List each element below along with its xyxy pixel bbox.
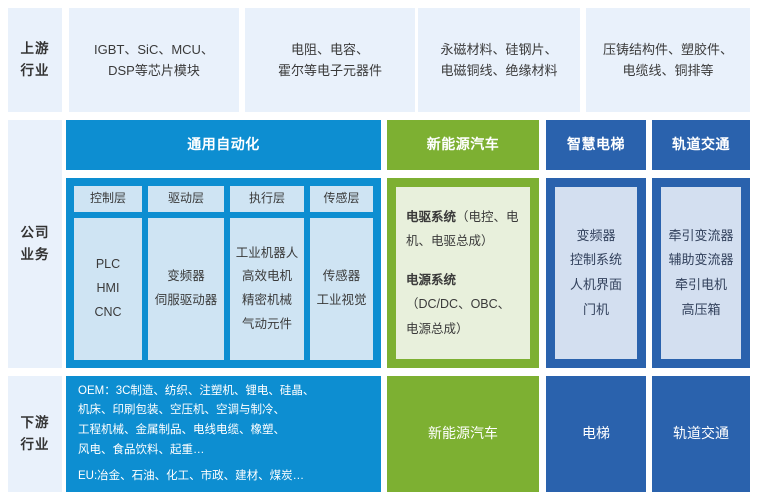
elevator-item-1: 控制系统 (570, 248, 622, 273)
nev-group-power: 电源系统（DC/DC、OBC、电源总成） (406, 268, 520, 341)
downstream-oem-line-2: 工程机械、金属制品、电线电缆、橡塑、 (78, 421, 369, 441)
segment-header-rail[interactable]: 轨道交通 (652, 120, 750, 170)
downstream-box-nev: 新能源汽车 (387, 376, 539, 492)
layer-tag-control: 控制层 (74, 186, 142, 212)
segment-body-elevator: 变频器 控制系统 人机界面 门机 (546, 178, 646, 368)
upstream-chips-line2: DSP等芯片模块 (94, 60, 214, 81)
rail-item-3: 高压箱 (668, 298, 733, 323)
downstream-box-general: OEM：3C制造、纺织、注塑机、锂电、硅晶、 机床、印刷包装、空压机、空调与制冷… (66, 376, 381, 492)
segment-header-automation[interactable]: 通用自动化 (66, 120, 381, 170)
layer-execution-item-1: 高效电机 (236, 265, 299, 289)
upstream-box-magnetics: 永磁材料、硅钢片、 电磁铜线、绝缘材料 (418, 8, 580, 112)
nev-power-body: （DC/DC、OBC、电源总成） (406, 297, 510, 335)
layer-drive-item-1: 伺服驱动器 (155, 289, 218, 313)
layer-tag-sensing: 传感层 (310, 186, 373, 212)
upstream-box-structures: 压铸结构件、塑胶件、 电缆线、铜排等 (586, 8, 750, 112)
rail-inner-panel: 牵引变流器 辅助变流器 牵引电机 高压箱 (661, 187, 741, 359)
upstream-magnetics-line1: 永磁材料、硅钢片、 (440, 39, 557, 60)
downstream-oem-line-1: 机床、印刷包装、空压机、空调与制冷、 (78, 401, 369, 421)
nev-group-drive: 电驱系统（电控、电机、电驱总成） (406, 205, 520, 254)
layer-cell-drive: 变频器 伺服驱动器 (148, 218, 224, 360)
layer-tag-drive: 驱动层 (148, 186, 224, 212)
upstream-box-components: 电阻、电容、 霍尔等电子元器件 (245, 8, 415, 112)
segment-body-nev: 电驱系统（电控、电机、电驱总成） 电源系统（DC/DC、OBC、电源总成） (387, 178, 539, 368)
row-label-upstream-line1: 上游 (21, 38, 50, 60)
segment-header-nev[interactable]: 新能源汽车 (387, 120, 539, 170)
downstream-oem-block: OEM：3C制造、纺织、注塑机、锂电、硅晶、 机床、印刷包装、空压机、空调与制冷… (78, 382, 369, 461)
upstream-structures-line1: 压铸结构件、塑胶件、 (603, 39, 733, 60)
row-label-downstream: 下游 行业 (8, 376, 62, 492)
nev-inner-panel: 电驱系统（电控、电机、电驱总成） 电源系统（DC/DC、OBC、电源总成） (396, 187, 530, 359)
rail-item-0: 牵引变流器 (668, 224, 733, 249)
segment-header-elevator[interactable]: 智慧电梯 (546, 120, 646, 170)
downstream-box-elevator: 电梯 (546, 376, 646, 492)
row-label-company-line1: 公司 (21, 222, 50, 244)
rail-item-2: 牵引电机 (668, 273, 733, 298)
segment-body-rail: 牵引变流器 辅助变流器 牵引电机 高压箱 (652, 178, 750, 368)
row-label-downstream-line2: 行业 (21, 434, 50, 456)
downstream-box-rail: 轨道交通 (652, 376, 750, 492)
layer-control-item-1: HMI (94, 277, 121, 301)
upstream-magnetics-line2: 电磁铜线、绝缘材料 (440, 60, 557, 81)
layer-cell-execution: 工业机器人 高效电机 精密机械 气动元件 (230, 218, 304, 360)
row-label-upstream: 上游 行业 (8, 8, 62, 112)
upstream-box-chips: IGBT、SiC、MCU、 DSP等芯片模块 (69, 8, 239, 112)
industry-chain-diagram: 上游 行业 公司 业务 下游 行业 IGBT、SiC、MCU、 DSP等芯片模块… (0, 0, 758, 500)
downstream-oem-line-3: 风电、食品饮料、起重… (78, 441, 369, 461)
row-label-downstream-line1: 下游 (21, 412, 50, 434)
elevator-item-2: 人机界面 (570, 273, 622, 298)
layer-tag-execution: 执行层 (230, 186, 304, 212)
nev-drive-head: 电驱系统 (406, 210, 456, 224)
upstream-components-line1: 电阻、电容、 (278, 39, 382, 60)
upstream-components-line2: 霍尔等电子元器件 (278, 60, 382, 81)
elevator-item-0: 变频器 (570, 224, 622, 249)
layer-control-item-0: PLC (94, 253, 121, 277)
elevator-inner-panel: 变频器 控制系统 人机界面 门机 (555, 187, 637, 359)
layer-execution-item-3: 气动元件 (236, 313, 299, 337)
segment-body-automation: 控制层 PLC HMI CNC 驱动层 变频器 伺服驱动器 执行层 工业机器人 … (66, 178, 381, 368)
downstream-eu-block: EU:冶金、石油、化工、市政、建材、煤炭… (78, 467, 369, 487)
layer-sensing-item-1: 工业视觉 (316, 289, 366, 313)
layer-cell-control: PLC HMI CNC (74, 218, 142, 360)
elevator-item-3: 门机 (570, 298, 622, 323)
rail-item-1: 辅助变流器 (668, 248, 733, 273)
row-label-upstream-line2: 行业 (21, 60, 50, 82)
row-label-company-line2: 业务 (21, 244, 50, 266)
downstream-oem-line-0: OEM：3C制造、纺织、注塑机、锂电、硅晶、 (78, 382, 369, 402)
nev-power-head: 电源系统 (406, 273, 456, 287)
layer-drive-item-0: 变频器 (155, 265, 218, 289)
upstream-structures-line2: 电缆线、铜排等 (603, 60, 733, 81)
row-label-company: 公司 业务 (8, 120, 62, 368)
downstream-eu-line: EU:冶金、石油、化工、市政、建材、煤炭… (78, 467, 369, 487)
layer-sensing-item-0: 传感器 (316, 265, 366, 289)
layer-execution-item-0: 工业机器人 (236, 242, 299, 266)
layer-execution-item-2: 精密机械 (236, 289, 299, 313)
upstream-chips-line1: IGBT、SiC、MCU、 (94, 39, 214, 60)
layer-cell-sensing: 传感器 工业视觉 (310, 218, 373, 360)
layer-control-item-2: CNC (94, 301, 121, 325)
